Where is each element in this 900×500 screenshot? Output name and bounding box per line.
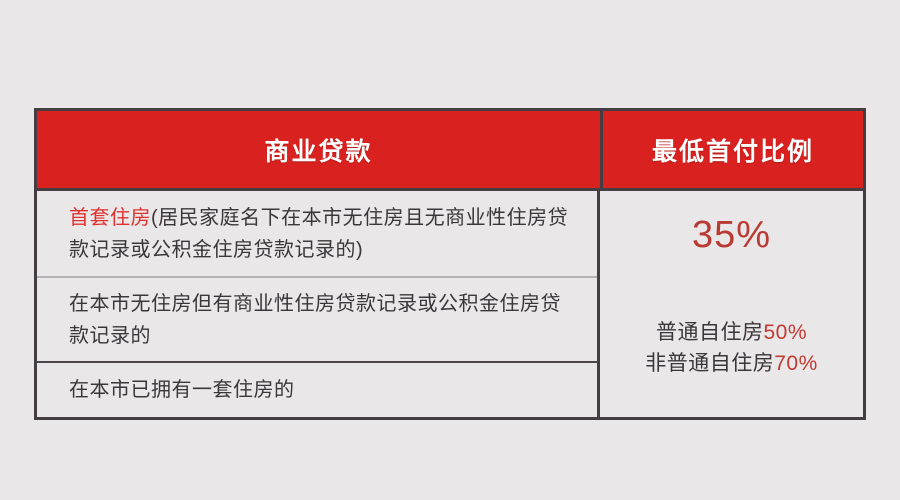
rate-cell-merged: 普通自住房50% 非普通自住房70% bbox=[600, 278, 863, 417]
down-payment-ratio-table: 商业贷款 最低首付比例 首套住房(居民家庭名下在本市无住房且无商业性住房贷款记录… bbox=[34, 108, 866, 420]
rate-line-ordinary: 普通自住房50% bbox=[656, 317, 807, 348]
table-body: 首套住房(居民家庭名下在本市无住房且无商业性住房贷款记录或公积金住房贷款记录的)… bbox=[37, 191, 863, 417]
rate-label-ordinary: 普通自住房 bbox=[656, 321, 764, 344]
table-header-min-downpayment: 最低首付比例 bbox=[603, 111, 863, 188]
rate-line-non-ordinary: 非普通自住房70% bbox=[645, 348, 818, 379]
rate-value-35: 35% bbox=[692, 216, 771, 254]
table-rate-column: 35% 普通自住房50% 非普通自住房70% bbox=[600, 191, 863, 417]
table-row: 在本市无住房但有商业性住房贷款记录或公积金住房贷款记录的 bbox=[37, 278, 597, 363]
rate-cell-first-home: 35% bbox=[600, 191, 863, 278]
table-header-loan-type: 商业贷款 bbox=[37, 111, 603, 188]
table-condition-column: 首套住房(居民家庭名下在本市无住房且无商业性住房贷款记录或公积金住房贷款记录的)… bbox=[37, 191, 600, 417]
condition-text-owns-one-home: 在本市已拥有一套住房的 bbox=[69, 374, 295, 406]
condition-text-first-home: 首套住房(居民家庭名下在本市无住房且无商业性住房贷款记录或公积金住房贷款记录的) bbox=[69, 202, 574, 266]
table-header-row: 商业贷款 最低首付比例 bbox=[37, 111, 863, 191]
table-row: 在本市已拥有一套住房的 bbox=[37, 363, 597, 417]
rate-label-non-ordinary: 非普通自住房 bbox=[645, 352, 774, 375]
rate-value-70: 70% bbox=[774, 352, 818, 375]
condition-highlight-first-home: 首套住房 bbox=[69, 207, 151, 229]
condition-text-no-home-with-loan-record: 在本市无住房但有商业性住房贷款记录或公积金住房贷款记录的 bbox=[69, 288, 574, 352]
rate-value-50: 50% bbox=[763, 321, 807, 344]
page-root: 商业贷款 最低首付比例 首套住房(居民家庭名下在本市无住房且无商业性住房贷款记录… bbox=[0, 0, 900, 500]
table-row: 首套住房(居民家庭名下在本市无住房且无商业性住房贷款记录或公积金住房贷款记录的) bbox=[37, 191, 597, 278]
